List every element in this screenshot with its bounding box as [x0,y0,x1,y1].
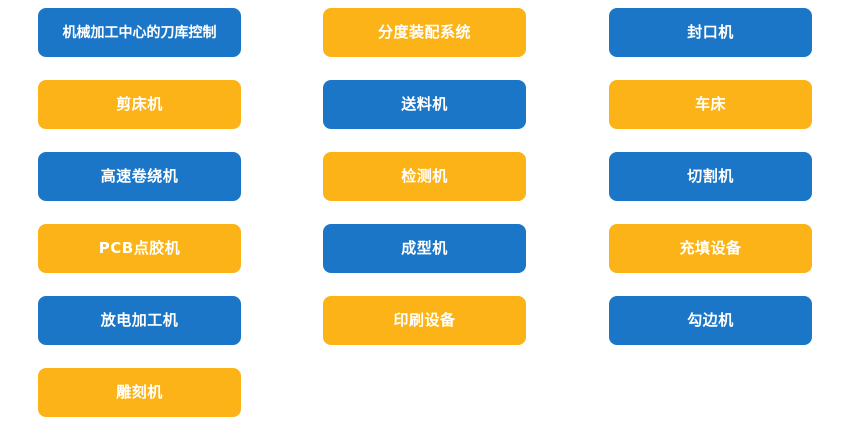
category-button[interactable]: 车床 [609,80,812,129]
category-button-label: 分度装配系统 [378,25,471,40]
category-button-label: 车床 [695,97,726,112]
category-button[interactable]: PCB点胶机 [38,224,241,273]
category-button[interactable]: 放电加工机 [38,296,241,345]
category-button[interactable]: 勾边机 [609,296,812,345]
category-button-label: 放电加工机 [101,313,179,328]
category-button[interactable]: 成型机 [323,224,526,273]
category-button[interactable]: 充填设备 [609,224,812,273]
category-button-label: 切割机 [687,169,734,184]
category-button[interactable]: 雕刻机 [38,368,241,417]
category-button[interactable]: 切割机 [609,152,812,201]
category-button[interactable]: 分度装配系统 [323,8,526,57]
category-button-label: 高速卷绕机 [101,169,179,184]
category-button-label: 成型机 [401,241,448,256]
button-grid: 机械加工中心的刀库控制分度装配系统封口机剪床机送料机车床高速卷绕机检测机切割机P… [0,0,850,436]
category-button[interactable]: 印刷设备 [323,296,526,345]
category-button[interactable]: 剪床机 [38,80,241,129]
category-button-label: PCB点胶机 [99,241,180,256]
category-button[interactable]: 封口机 [609,8,812,57]
category-button-label: 印刷设备 [393,313,455,328]
category-button[interactable]: 机械加工中心的刀库控制 [38,8,241,57]
category-button[interactable]: 检测机 [323,152,526,201]
category-button-label: 封口机 [687,25,734,40]
category-button-label: 剪床机 [116,97,163,112]
category-button-label: 充填设备 [679,241,741,256]
category-button-label: 检测机 [401,169,448,184]
category-button[interactable]: 高速卷绕机 [38,152,241,201]
category-button-label: 勾边机 [687,313,734,328]
category-button-label: 雕刻机 [116,385,163,400]
category-button-label: 送料机 [401,97,448,112]
category-button[interactable]: 送料机 [323,80,526,129]
category-button-label: 机械加工中心的刀库控制 [63,26,217,40]
